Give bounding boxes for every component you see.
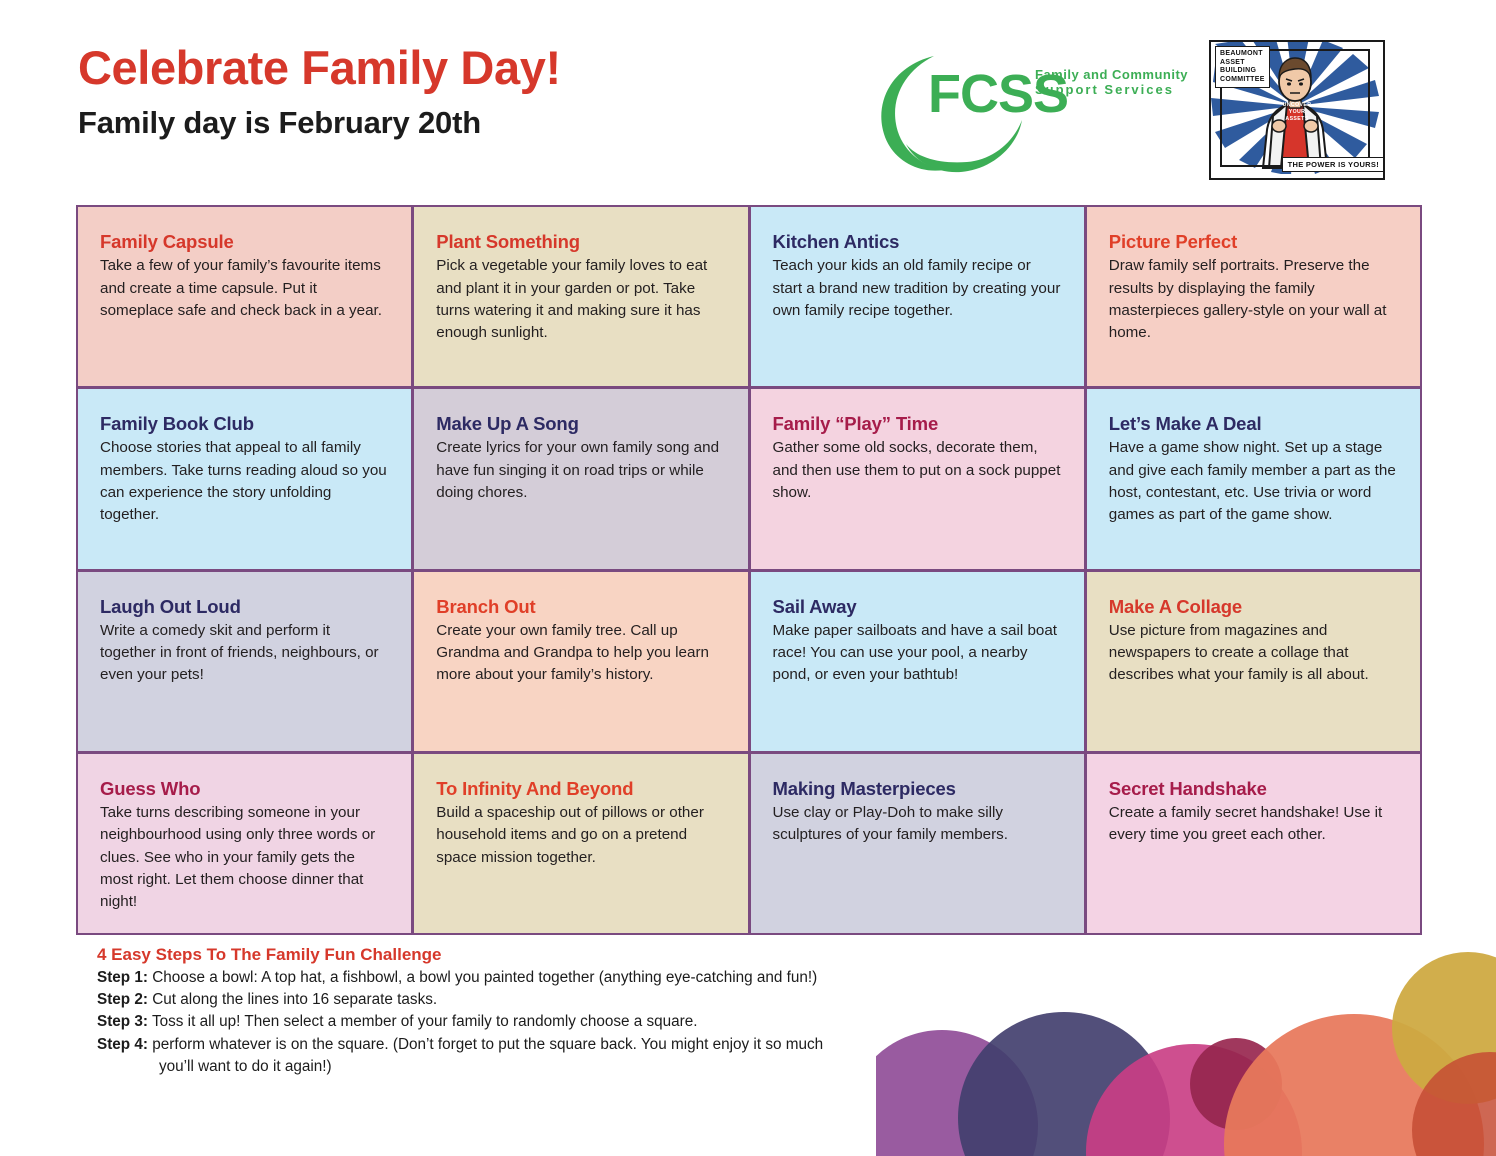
activity-description: Have a game show night. Set up a stage a…	[1109, 437, 1398, 526]
page-title: Celebrate Family Day!	[78, 44, 561, 91]
steps-section: 4 Easy Steps To The Family Fun Challenge…	[97, 945, 917, 1078]
activity-description: Create your own family tree. Call up Gra…	[436, 620, 725, 687]
step-text: Cut along the lines into 16 separate tas…	[148, 991, 437, 1008]
activity-description: Take turns describing someone in your ne…	[100, 802, 389, 914]
deco-circle-darkred	[1190, 1038, 1282, 1130]
activity-cell: Make A CollageUse picture from magazines…	[1087, 572, 1420, 751]
activity-description: Use clay or Play-Doh to make silly sculp…	[773, 802, 1062, 847]
babc-logo: BEAUMONTASSETBUILDINGCOMMITTEE UNCOVERYO…	[1209, 40, 1385, 180]
activity-title: Family “Play” Time	[773, 413, 1062, 435]
activity-description: Build a spaceship out of pillows or othe…	[436, 802, 725, 869]
activity-title: Sail Away	[773, 596, 1062, 618]
activity-description: Use picture from magazines and newspaper…	[1109, 620, 1398, 687]
activity-title: Family Capsule	[100, 231, 389, 253]
title-block: Celebrate Family Day! Family day is Febr…	[78, 44, 561, 141]
step-text: Toss it all up! Then select a member of …	[148, 1013, 698, 1030]
babc-chest-text: UNCOVERYOURASSETS	[1283, 102, 1312, 123]
activity-cell: Sail AwayMake paper sailboats and have a…	[751, 572, 1084, 751]
activity-description: Draw family self portraits. Preserve the…	[1109, 255, 1398, 344]
fcss-wordmark: Family and Community Support Services	[1035, 68, 1188, 97]
step-label: Step 3:	[97, 1013, 148, 1030]
activity-title: Making Masterpieces	[773, 778, 1062, 800]
activity-title: Family Book Club	[100, 413, 389, 435]
activity-title: Let’s Make A Deal	[1109, 413, 1398, 435]
activity-description: Make paper sailboats and have a sail boa…	[773, 620, 1062, 687]
activity-cell: Laugh Out LoudWrite a comedy skit and pe…	[78, 572, 411, 751]
step-text: Choose a bowl: A top hat, a fishbowl, a …	[148, 969, 817, 986]
activity-description: Take a few of your family’s favourite it…	[100, 255, 389, 322]
activity-description: Teach your kids an old family recipe or …	[773, 255, 1062, 322]
activity-description: Write a comedy skit and perform it toget…	[100, 620, 389, 687]
deco-circle-navy	[958, 1012, 1170, 1156]
activity-cell: Family “Play” TimeGather some old socks,…	[751, 389, 1084, 568]
activity-title: Kitchen Antics	[773, 231, 1062, 253]
deco-circle-orange	[1224, 1014, 1484, 1156]
activity-cell: Make Up A SongCreate lyrics for your own…	[414, 389, 747, 568]
activity-title: Branch Out	[436, 596, 725, 618]
step-row: Step 1: Choose a bowl: A top hat, a fish…	[97, 967, 917, 989]
deco-circle-gold	[1392, 952, 1496, 1104]
page-subtitle: Family day is February 20th	[78, 105, 561, 141]
activity-title: Picture Perfect	[1109, 231, 1398, 253]
activity-title: Laugh Out Loud	[100, 596, 389, 618]
page-header: Celebrate Family Day! Family day is Febr…	[0, 0, 1496, 200]
step-label: Step 2:	[97, 991, 148, 1008]
step-label: Step 1:	[97, 969, 148, 986]
babc-title-caption: BEAUMONTASSETBUILDINGCOMMITTEE	[1215, 46, 1270, 88]
activity-cell: Kitchen AnticsTeach your kids an old fam…	[751, 207, 1084, 386]
deco-circle-magenta	[1086, 1044, 1302, 1156]
deco-circle-rust	[1412, 1052, 1496, 1156]
activity-cell: Branch OutCreate your own family tree. C…	[414, 572, 747, 751]
activity-cell: Guess WhoTake turns describing someone i…	[78, 754, 411, 933]
fcss-logo: FCSS Family and Community Support Servic…	[872, 44, 1172, 174]
activity-description: Gather some old socks, decorate them, an…	[773, 437, 1062, 504]
activity-cell: Picture PerfectDraw family self portrait…	[1087, 207, 1420, 386]
activity-title: Guess Who	[100, 778, 389, 800]
activity-title: To Infinity And Beyond	[436, 778, 725, 800]
steps-title: 4 Easy Steps To The Family Fun Challenge	[97, 945, 917, 965]
step-continuation: you’ll want to do it again!)	[97, 1056, 917, 1078]
step-row: Step 4: perform whatever is on the squar…	[97, 1034, 917, 1056]
activity-cell: Family Book ClubChoose stories that appe…	[78, 389, 411, 568]
activity-title: Make A Collage	[1109, 596, 1398, 618]
fcss-tagline-line1: Family and Community	[1035, 68, 1188, 83]
step-row: Step 2: Cut along the lines into 16 sepa…	[97, 989, 917, 1011]
activity-description: Choose stories that appeal to all family…	[100, 437, 389, 526]
activity-description: Create lyrics for your own family song a…	[436, 437, 725, 504]
activity-cell: Family CapsuleTake a few of your family’…	[78, 207, 411, 386]
activity-cell: Plant SomethingPick a vegetable your fam…	[414, 207, 747, 386]
babc-tagline-caption: THE POWER IS YOURS!	[1282, 157, 1385, 172]
steps-list: Step 1: Choose a bowl: A top hat, a fish…	[97, 967, 917, 1056]
fcss-tagline-line2: Support Services	[1035, 83, 1188, 98]
activity-title: Secret Handshake	[1109, 778, 1398, 800]
activity-description: Pick a vegetable your family loves to ea…	[436, 255, 725, 344]
activity-title: Make Up A Song	[436, 413, 725, 435]
activity-cell: Making MasterpiecesUse clay or Play-Doh …	[751, 754, 1084, 933]
step-label: Step 4:	[97, 1036, 148, 1053]
activity-description: Create a family secret handshake! Use it…	[1109, 802, 1398, 847]
activity-cell: Let’s Make A DealHave a game show night.…	[1087, 389, 1420, 568]
step-text: perform whatever is on the square. (Don’…	[148, 1036, 823, 1053]
activity-cell: To Infinity And BeyondBuild a spaceship …	[414, 754, 747, 933]
activity-title: Plant Something	[436, 231, 725, 253]
activity-grid: Family CapsuleTake a few of your family’…	[76, 205, 1422, 935]
step-row: Step 3: Toss it all up! Then select a me…	[97, 1011, 917, 1033]
activity-cell: Secret HandshakeCreate a family secret h…	[1087, 754, 1420, 933]
fcss-swoosh-icon: FCSS	[872, 44, 1172, 174]
